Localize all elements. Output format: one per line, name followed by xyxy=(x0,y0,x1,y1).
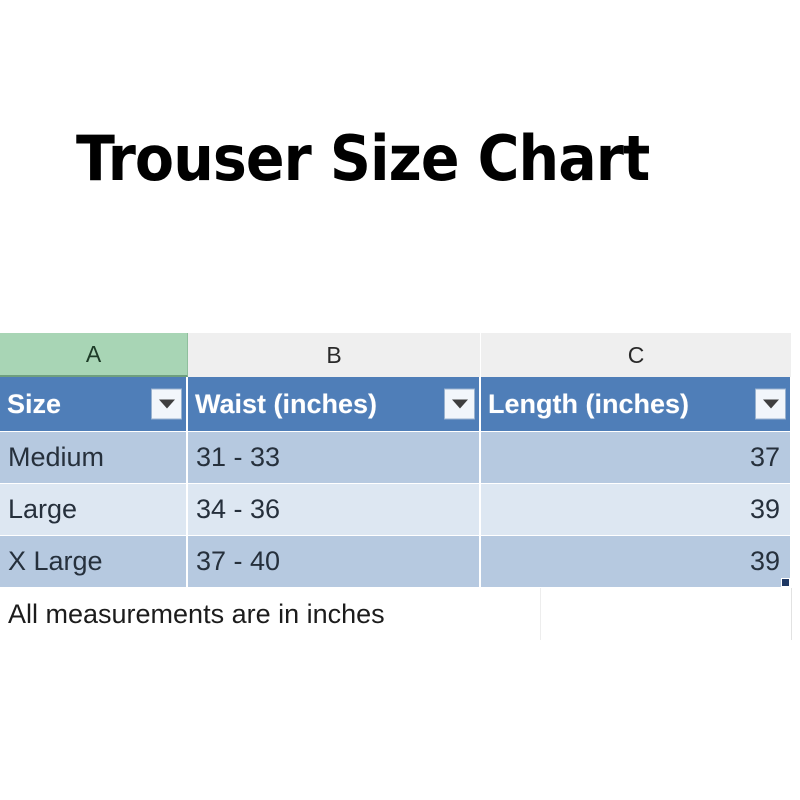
cell-length[interactable]: 39 xyxy=(481,484,792,536)
filter-dropdown-icon-size[interactable] xyxy=(151,389,182,420)
header-cell-waist: Waist (inches) xyxy=(188,377,481,432)
table-row: Medium 31 - 33 37 xyxy=(0,432,792,484)
cell-size[interactable]: Medium xyxy=(0,432,188,484)
header-label-length: Length (inches) xyxy=(488,389,689,420)
cell-waist[interactable]: 31 - 33 xyxy=(188,432,481,484)
cell-size[interactable]: X Large xyxy=(0,536,188,588)
column-header-b[interactable]: B xyxy=(188,333,481,377)
chevron-down-icon xyxy=(763,400,779,409)
cell-waist[interactable]: 34 - 36 xyxy=(188,484,481,536)
footnote-row: All measurements are in inches xyxy=(0,588,792,640)
fill-handle[interactable] xyxy=(781,578,790,587)
page-title: Trouser Size Chart xyxy=(76,126,649,191)
chevron-down-icon xyxy=(159,400,175,409)
filter-dropdown-icon-length[interactable] xyxy=(755,389,786,420)
header-label-waist: Waist (inches) xyxy=(195,389,377,420)
header-cell-length: Length (inches) xyxy=(481,377,792,432)
column-header-c[interactable]: C xyxy=(481,333,792,377)
table-row: Large 34 - 36 39 xyxy=(0,484,792,536)
cell-length-value: 39 xyxy=(750,546,780,577)
filter-dropdown-icon-waist[interactable] xyxy=(444,389,475,420)
header-cell-size: Size xyxy=(0,377,188,432)
size-chart-spreadsheet: A B C Size Waist (inches) Length (inches… xyxy=(0,333,792,640)
cell-size[interactable]: Large xyxy=(0,484,188,536)
header-label-size: Size xyxy=(7,389,61,420)
footnote-cell[interactable]: All measurements are in inches xyxy=(0,588,792,640)
cell-length[interactable]: 37 xyxy=(481,432,792,484)
table-row: X Large 37 - 40 39 xyxy=(0,536,792,588)
cell-waist[interactable]: 37 - 40 xyxy=(188,536,481,588)
column-header-a[interactable]: A xyxy=(0,333,188,377)
table-header-row: Size Waist (inches) Length (inches) xyxy=(0,377,792,432)
chevron-down-icon xyxy=(452,400,468,409)
cell-length[interactable]: 39 xyxy=(481,536,792,588)
column-letter-row: A B C xyxy=(0,333,792,377)
